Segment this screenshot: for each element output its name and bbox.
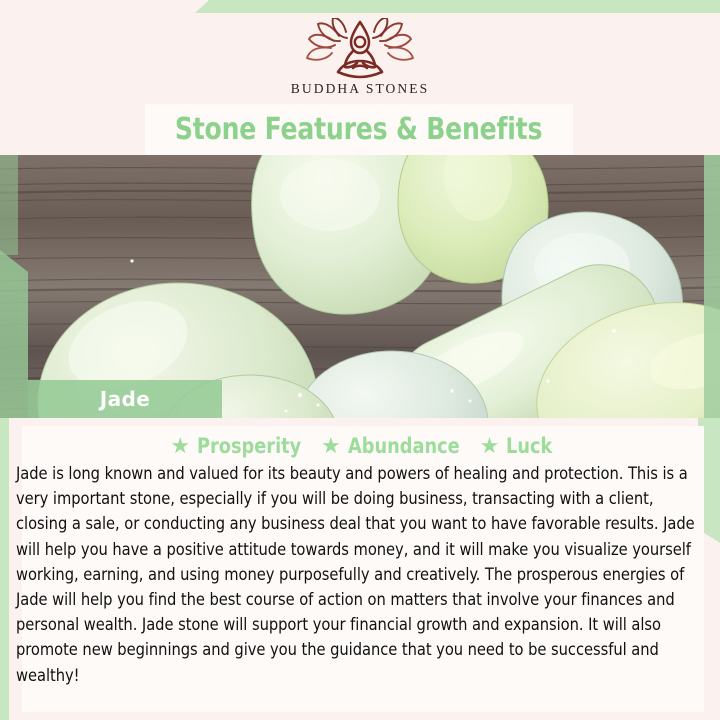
hero-image: [0, 155, 720, 418]
keyword-item-luck: ★ Luck: [480, 434, 556, 458]
brand-logo: BUDDHA STONES: [0, 18, 720, 102]
keyword-item-prosperity: ★ Prosperity: [170, 434, 308, 458]
jade-stones-photo: [0, 155, 720, 418]
keyword-item-abundance: ★ Abundance: [321, 434, 467, 458]
photo-right-accent-strip: [704, 155, 720, 418]
photo-left-accent-wedge: [0, 250, 28, 418]
star-icon: ★: [321, 435, 341, 457]
stone-name-band: Jade: [28, 380, 222, 418]
keyword-label-luck: Luck: [506, 434, 552, 458]
page-title: Stone Features & Benefits: [175, 112, 542, 147]
keyword-label-abundance: Abundance: [348, 434, 460, 458]
stone-name-label: Jade: [100, 387, 150, 411]
left-accent-edge: [0, 418, 9, 720]
star-icon: ★: [480, 435, 500, 457]
keyword-row: ★ Prosperity ★ Abundance ★ Luck: [22, 430, 704, 462]
keyword-label-prosperity: Prosperity: [197, 434, 301, 458]
photo-left-accent-sliver: [0, 155, 18, 255]
star-icon: ★: [170, 435, 190, 457]
page-root: BUDDHA STONES Stone Features & Benefits: [0, 0, 720, 720]
title-banner: Stone Features & Benefits: [145, 104, 573, 155]
lotus-meditation-figure-icon: [301, 18, 419, 80]
description-paragraph: Jade is long known and valued for its be…: [16, 461, 700, 688]
brand-name: BUDDHA STONES: [291, 81, 429, 97]
top-accent-band: [195, 0, 720, 13]
